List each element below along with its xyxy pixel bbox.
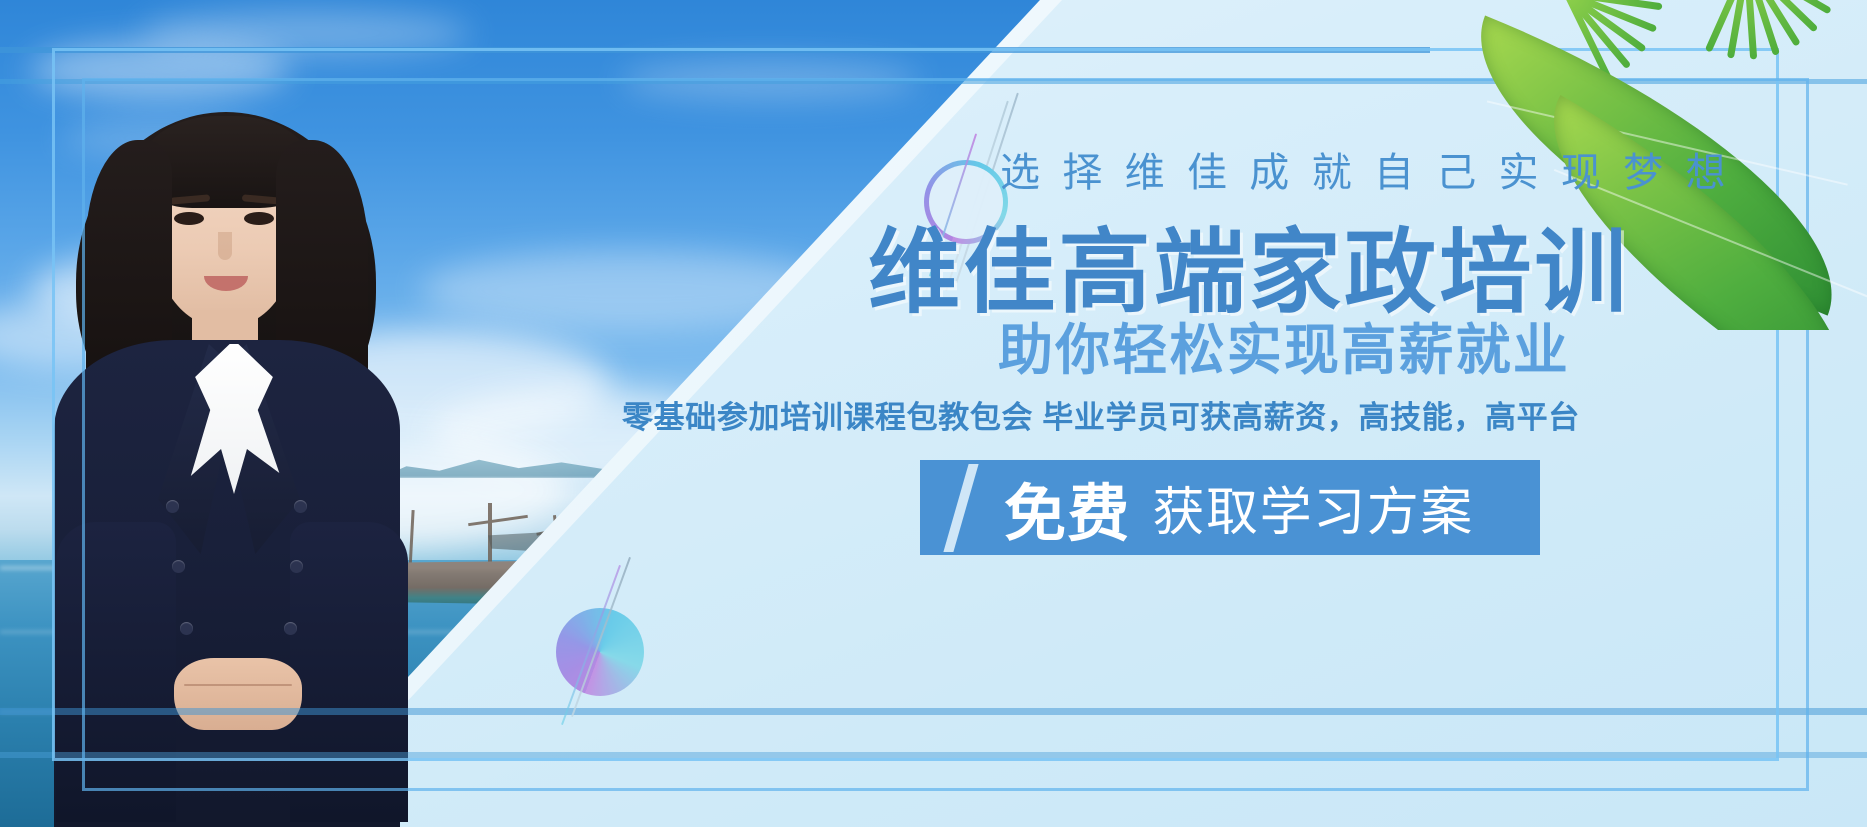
description-text: 零基础参加培训课程包教包会 毕业学员可获高薪资，高技能，高平台	[622, 392, 1580, 437]
cta-label: 获取学习方案	[1152, 470, 1473, 545]
get-study-plan-button[interactable]: 免费 获取学习方案	[920, 460, 1540, 555]
cta-highlight-label: 免费	[1004, 463, 1130, 553]
subheadline: 助你轻松实现高薪就业	[998, 305, 1570, 385]
banner-copy: 选 择 维 佳 成 就 自 己 实 现 梦 想 维佳高端家政培训 助你轻松实现高…	[560, 0, 1867, 827]
promo-banner: 选 择 维 佳 成 就 自 己 实 现 梦 想 维佳高端家政培训 助你轻松实现高…	[0, 0, 1867, 827]
slash-accent-icon	[943, 464, 978, 552]
tagline: 选 择 维 佳 成 就 自 己 实 现 梦 想	[1000, 140, 1731, 198]
